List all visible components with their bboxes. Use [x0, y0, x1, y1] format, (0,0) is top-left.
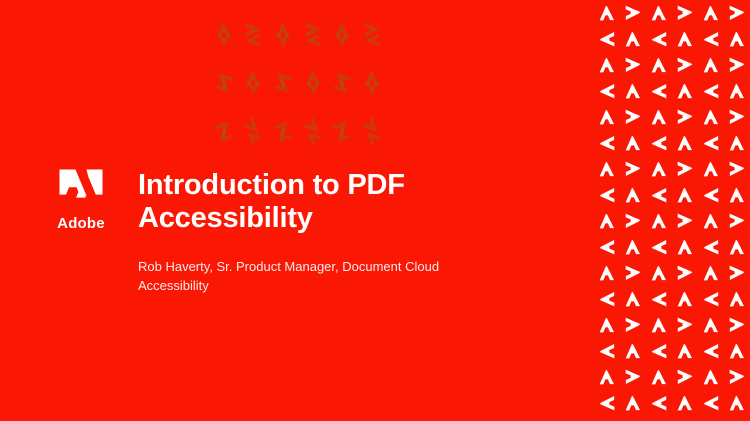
adobe-a-icon — [646, 260, 672, 286]
adobe-a-icon — [672, 338, 698, 364]
adobe-a-icon — [672, 0, 698, 26]
adobe-a-icon — [620, 416, 646, 421]
faint-adobe-pattern — [212, 12, 390, 152]
adobe-a-icon — [620, 78, 646, 104]
adobe-a-icon — [646, 156, 672, 182]
adobe-a-icon — [672, 234, 698, 260]
adobe-a-icon — [594, 416, 620, 421]
adobe-a-icon — [620, 234, 646, 260]
adobe-a-icon — [214, 117, 240, 147]
adobe-a-icon — [724, 156, 750, 182]
adobe-a-icon — [724, 78, 750, 104]
adobe-a-icon — [698, 390, 724, 416]
presentation-slide: Adobe Introduction to PDF Accessibility … — [0, 0, 750, 421]
adobe-a-icon — [646, 364, 672, 390]
adobe-a-icon — [594, 78, 620, 104]
adobe-a-icon — [698, 78, 724, 104]
adobe-a-icon — [214, 68, 240, 98]
adobe-a-icon — [620, 338, 646, 364]
adobe-a-icon — [594, 0, 620, 26]
adobe-a-icon — [698, 286, 724, 312]
right-adobe-pattern — [594, 0, 750, 421]
adobe-wordmark: Adobe — [52, 216, 110, 231]
adobe-a-icon — [724, 286, 750, 312]
adobe-a-icon — [724, 390, 750, 416]
adobe-a-icon — [646, 52, 672, 78]
adobe-a-icon — [594, 182, 620, 208]
adobe-a-icon — [698, 182, 724, 208]
adobe-a-icon — [724, 130, 750, 156]
adobe-a-icon — [724, 234, 750, 260]
adobe-a-icon — [698, 234, 724, 260]
adobe-a-icon — [646, 104, 672, 130]
adobe-a-icon — [594, 130, 620, 156]
adobe-a-icon — [594, 52, 620, 78]
adobe-a-icon — [646, 182, 672, 208]
adobe-a-icon — [672, 312, 698, 338]
adobe-a-icon — [594, 208, 620, 234]
adobe-a-icon — [620, 130, 646, 156]
adobe-a-icon — [594, 286, 620, 312]
adobe-a-icon — [698, 26, 724, 52]
adobe-a-icon — [362, 117, 388, 147]
adobe-logo: Adobe — [52, 168, 110, 231]
adobe-a-icon — [594, 104, 620, 130]
adobe-a-icon — [672, 78, 698, 104]
adobe-a-icon — [594, 364, 620, 390]
adobe-a-icon — [698, 260, 724, 286]
adobe-a-icon — [724, 208, 750, 234]
adobe-a-icon — [332, 117, 358, 147]
adobe-a-icon — [646, 208, 672, 234]
adobe-a-icon — [672, 208, 698, 234]
adobe-a-icon — [724, 52, 750, 78]
adobe-a-icon — [646, 26, 672, 52]
adobe-a-icon — [620, 312, 646, 338]
adobe-a-icon — [620, 364, 646, 390]
adobe-a-icon — [672, 390, 698, 416]
adobe-a-icon — [620, 182, 646, 208]
adobe-a-icon — [646, 416, 672, 421]
adobe-a-icon — [620, 26, 646, 52]
adobe-a-icon — [620, 52, 646, 78]
adobe-a-icon — [620, 156, 646, 182]
slide-subtitle: Rob Haverty, Sr. Product Manager, Docume… — [138, 258, 478, 296]
adobe-a-icon — [724, 104, 750, 130]
adobe-a-icon — [273, 20, 299, 50]
adobe-a-icon — [698, 338, 724, 364]
adobe-a-icon — [620, 0, 646, 26]
adobe-a-icon — [594, 312, 620, 338]
adobe-a-icon — [303, 68, 329, 98]
adobe-a-icon — [672, 26, 698, 52]
adobe-a-icon — [698, 0, 724, 26]
adobe-a-icon — [698, 416, 724, 421]
adobe-a-icon — [243, 68, 269, 98]
adobe-a-icon — [698, 208, 724, 234]
adobe-a-icon — [362, 68, 388, 98]
adobe-a-icon — [620, 390, 646, 416]
adobe-a-icon — [724, 312, 750, 338]
adobe-a-icon — [303, 20, 329, 50]
adobe-a-icon — [698, 130, 724, 156]
adobe-a-icon — [724, 338, 750, 364]
adobe-a-icon — [672, 104, 698, 130]
adobe-a-icon — [620, 208, 646, 234]
adobe-a-icon — [58, 168, 104, 212]
adobe-a-icon — [332, 20, 358, 50]
adobe-a-icon — [646, 0, 672, 26]
adobe-a-icon — [646, 286, 672, 312]
adobe-a-icon — [698, 312, 724, 338]
adobe-a-icon — [273, 68, 299, 98]
adobe-a-icon — [243, 117, 269, 147]
adobe-a-icon — [303, 117, 329, 147]
adobe-a-icon — [724, 260, 750, 286]
adobe-a-icon — [672, 52, 698, 78]
adobe-a-icon — [724, 364, 750, 390]
adobe-a-icon — [672, 286, 698, 312]
adobe-a-icon — [594, 390, 620, 416]
adobe-a-icon — [672, 156, 698, 182]
adobe-a-icon — [273, 117, 299, 147]
adobe-a-icon — [620, 104, 646, 130]
adobe-a-icon — [672, 416, 698, 421]
adobe-a-icon — [594, 234, 620, 260]
adobe-a-icon — [594, 26, 620, 52]
adobe-a-icon — [646, 78, 672, 104]
adobe-a-icon — [724, 416, 750, 421]
adobe-a-icon — [362, 20, 388, 50]
adobe-a-icon — [672, 182, 698, 208]
adobe-a-icon — [672, 130, 698, 156]
slide-title: Introduction to PDF Accessibility — [138, 169, 568, 236]
adobe-a-icon — [724, 182, 750, 208]
faint-pattern-row — [212, 66, 390, 100]
adobe-a-icon — [243, 20, 269, 50]
adobe-a-icon — [698, 156, 724, 182]
adobe-a-icon — [672, 364, 698, 390]
adobe-a-icon — [646, 312, 672, 338]
adobe-a-icon — [594, 338, 620, 364]
adobe-a-icon — [620, 260, 646, 286]
adobe-a-icon — [214, 20, 240, 50]
adobe-a-icon — [724, 0, 750, 26]
faint-pattern-row — [212, 115, 390, 149]
adobe-a-icon — [672, 260, 698, 286]
adobe-a-icon — [698, 364, 724, 390]
adobe-a-icon — [646, 234, 672, 260]
adobe-a-icon — [646, 130, 672, 156]
adobe-a-icon — [594, 156, 620, 182]
adobe-a-icon — [594, 260, 620, 286]
adobe-a-icon — [620, 286, 646, 312]
faint-pattern-row — [212, 18, 390, 52]
adobe-a-icon — [724, 26, 750, 52]
adobe-a-icon — [646, 390, 672, 416]
adobe-a-icon — [646, 338, 672, 364]
adobe-a-icon — [698, 52, 724, 78]
adobe-a-icon — [332, 68, 358, 98]
adobe-a-icon — [698, 104, 724, 130]
